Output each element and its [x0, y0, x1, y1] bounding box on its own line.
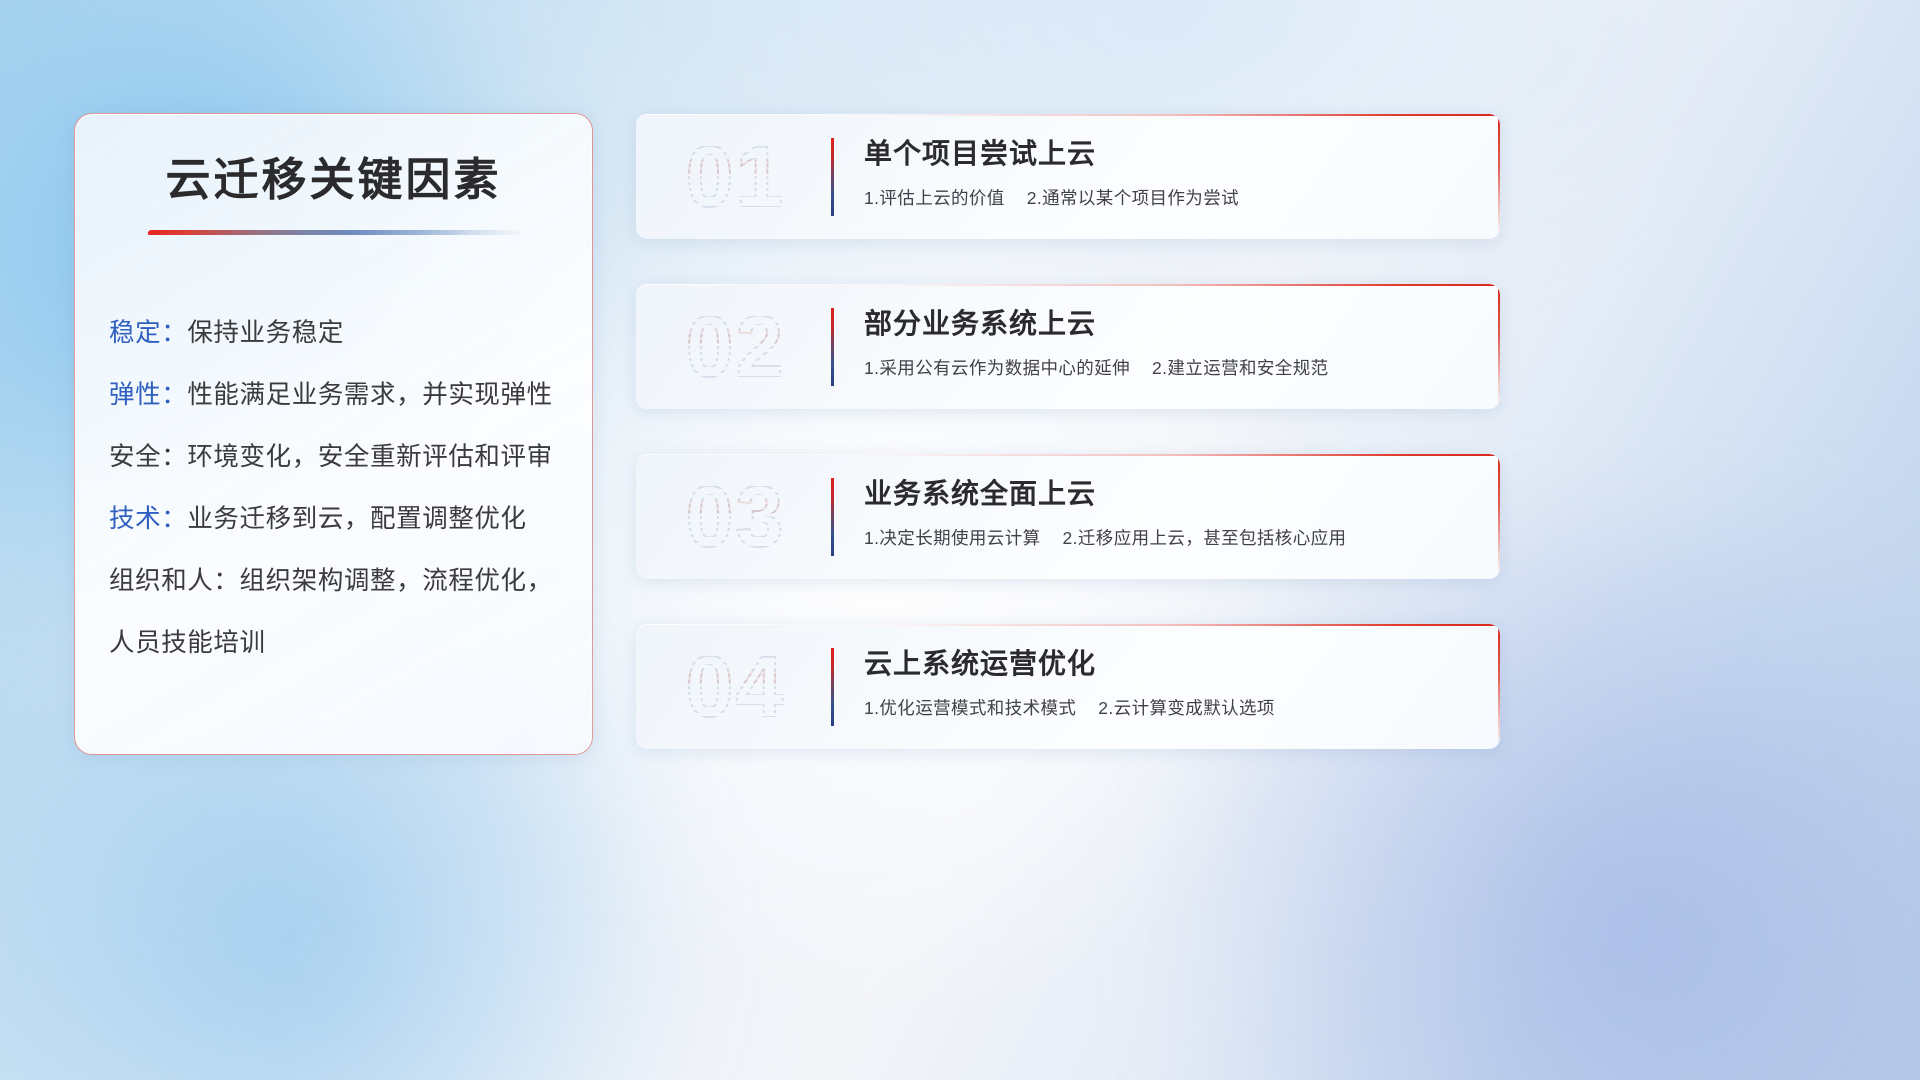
stage-number-04-tint: 04	[658, 632, 813, 742]
stage-divider-bar	[831, 648, 834, 726]
list-item-label: 稳定：	[109, 319, 187, 347]
list-item-text: 组织架构调整，流程优化，	[240, 567, 553, 595]
stage-description: 1.决定长期使用云计算2.迁移应用上云，甚至包括核心应用	[864, 525, 1474, 550]
stage-number-01-tint: 01	[658, 122, 813, 232]
stage-card-04[interactable]: 04 04 云上系统运营优化 1.优化运营模式和技术模式2.云计算变成默认选项	[636, 624, 1500, 749]
list-item: 稳定：保持业务稳定	[109, 302, 559, 364]
stage-divider-bar	[831, 308, 834, 386]
list-item-text: 人员技能培训	[109, 629, 266, 657]
stages-card-list: 01 01 单个项目尝试上云 1.评估上云的价值2.通常以某个项目作为尝试 02…	[636, 114, 1500, 794]
stage-card-02[interactable]: 02 02 部分业务系统上云 1.采用公有云作为数据中心的延伸2.建立运营和安全…	[636, 284, 1500, 409]
stage-number-02-tint: 02	[658, 292, 813, 402]
key-factors-panel: 云迁移关键因素 稳定：保持业务稳定 弹性：性能满足业务需求，并实现弹性 安全：环…	[74, 113, 593, 755]
stage-card-03[interactable]: 03 03 业务系统全面上云 1.决定长期使用云计算2.迁移应用上云，甚至包括核…	[636, 454, 1500, 579]
key-factors-list: 稳定：保持业务稳定 弹性：性能满足业务需求，并实现弹性 安全：环境变化，安全重新…	[109, 302, 559, 674]
title-underline-accent	[146, 230, 520, 235]
list-item-label: 安全：	[109, 443, 187, 471]
list-item-label: 弹性：	[109, 381, 187, 409]
stage-divider-bar	[831, 138, 834, 216]
list-item: 安全：环境变化，安全重新评估和评审	[109, 426, 559, 488]
stage-description-part-1: 1.优化运营模式和技术模式	[864, 698, 1076, 718]
stage-card-body: 云上系统运营优化 1.优化运营模式和技术模式2.云计算变成默认选项	[864, 646, 1474, 720]
stage-description-part-2: 2.迁移应用上云，甚至包括核心应用	[1063, 528, 1347, 548]
stage-description: 1.采用公有云作为数据中心的延伸2.建立运营和安全规范	[864, 355, 1474, 380]
stage-description-part-1: 1.评估上云的价值	[864, 188, 1005, 208]
stage-number-03-tint: 03	[658, 462, 813, 572]
stage-description-part-1: 1.采用公有云作为数据中心的延伸	[864, 358, 1130, 378]
stage-description-part-2: 2.通常以某个项目作为尝试	[1027, 188, 1239, 208]
list-item: 人员技能培训	[109, 612, 559, 674]
list-item-text: 保持业务稳定	[187, 319, 344, 347]
stage-title: 部分业务系统上云	[864, 306, 1474, 341]
list-item-text: 环境变化，安全重新评估和评审	[187, 443, 552, 471]
list-item: 技术：业务迁移到云，配置调整优化	[109, 488, 559, 550]
stage-card-body: 业务系统全面上云 1.决定长期使用云计算2.迁移应用上云，甚至包括核心应用	[864, 476, 1474, 550]
list-item: 弹性：性能满足业务需求，并实现弹性	[109, 364, 559, 426]
stage-card-01[interactable]: 01 01 单个项目尝试上云 1.评估上云的价值2.通常以某个项目作为尝试	[636, 114, 1500, 239]
stage-title: 单个项目尝试上云	[864, 136, 1474, 171]
page-title: 云迁移关键因素	[75, 155, 592, 205]
stage-divider-bar	[831, 478, 834, 556]
stage-description-part-2: 2.云计算变成默认选项	[1098, 698, 1275, 718]
stage-card-body: 部分业务系统上云 1.采用公有云作为数据中心的延伸2.建立运营和安全规范	[864, 306, 1474, 380]
stage-description-part-2: 2.建立运营和安全规范	[1152, 358, 1329, 378]
list-item-label: 技术：	[109, 505, 187, 533]
stage-title: 业务系统全面上云	[864, 476, 1474, 511]
list-item-label: 组织和人：	[109, 567, 240, 595]
stage-title: 云上系统运营优化	[864, 646, 1474, 681]
stage-description: 1.优化运营模式和技术模式2.云计算变成默认选项	[864, 695, 1474, 720]
stage-description: 1.评估上云的价值2.通常以某个项目作为尝试	[864, 185, 1474, 210]
list-item: 组织和人：组织架构调整，流程优化，	[109, 550, 559, 612]
stage-card-body: 单个项目尝试上云 1.评估上云的价值2.通常以某个项目作为尝试	[864, 136, 1474, 210]
list-item-text: 性能满足业务需求，并实现弹性	[187, 381, 552, 409]
list-item-text: 业务迁移到云，配置调整优化	[187, 505, 526, 533]
stage-description-part-1: 1.决定长期使用云计算	[864, 528, 1041, 548]
